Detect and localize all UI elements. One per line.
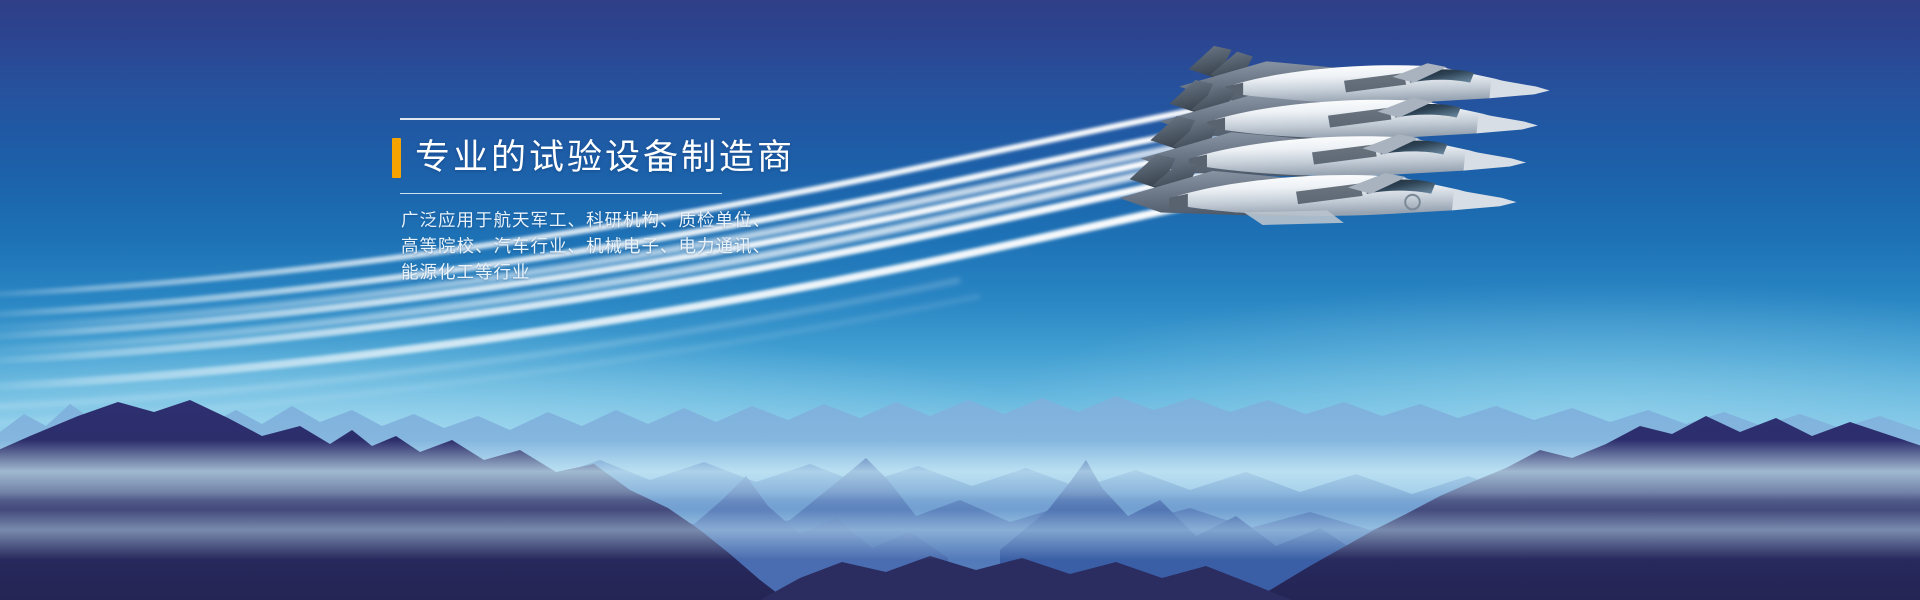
fighter-jet-formation: [1120, 40, 1920, 290]
banner-headline: 专业的试验设备制造商: [415, 138, 795, 178]
subtitle-line-1: 广泛应用于航天军工、科研机构、质检单位、: [401, 207, 912, 233]
banner-subtitle: 广泛应用于航天军工、科研机构、质检单位、 高等院校、汽车行业、机械电子、电力通讯…: [401, 207, 912, 285]
headline-row: 专业的试验设备制造商: [392, 138, 912, 178]
banner-copy-block: 专业的试验设备制造商 广泛应用于航天军工、科研机构、质检单位、 高等院校、汽车行…: [392, 118, 912, 285]
subtitle-line-2: 高等院校、汽车行业、机械电子、电力通讯、: [401, 233, 912, 259]
subtitle-line-3: 能源化工等行业: [401, 259, 912, 285]
orange-accent-bar: [392, 138, 401, 178]
jet-4: [1179, 46, 1550, 104]
mountain-range-group: [0, 340, 1920, 600]
hero-banner: 专业的试验设备制造商 广泛应用于航天军工、科研机构、质检单位、 高等院校、汽车行…: [0, 0, 1920, 600]
headline-bottom-rule: [400, 193, 722, 194]
headline-top-rule: [400, 118, 720, 120]
